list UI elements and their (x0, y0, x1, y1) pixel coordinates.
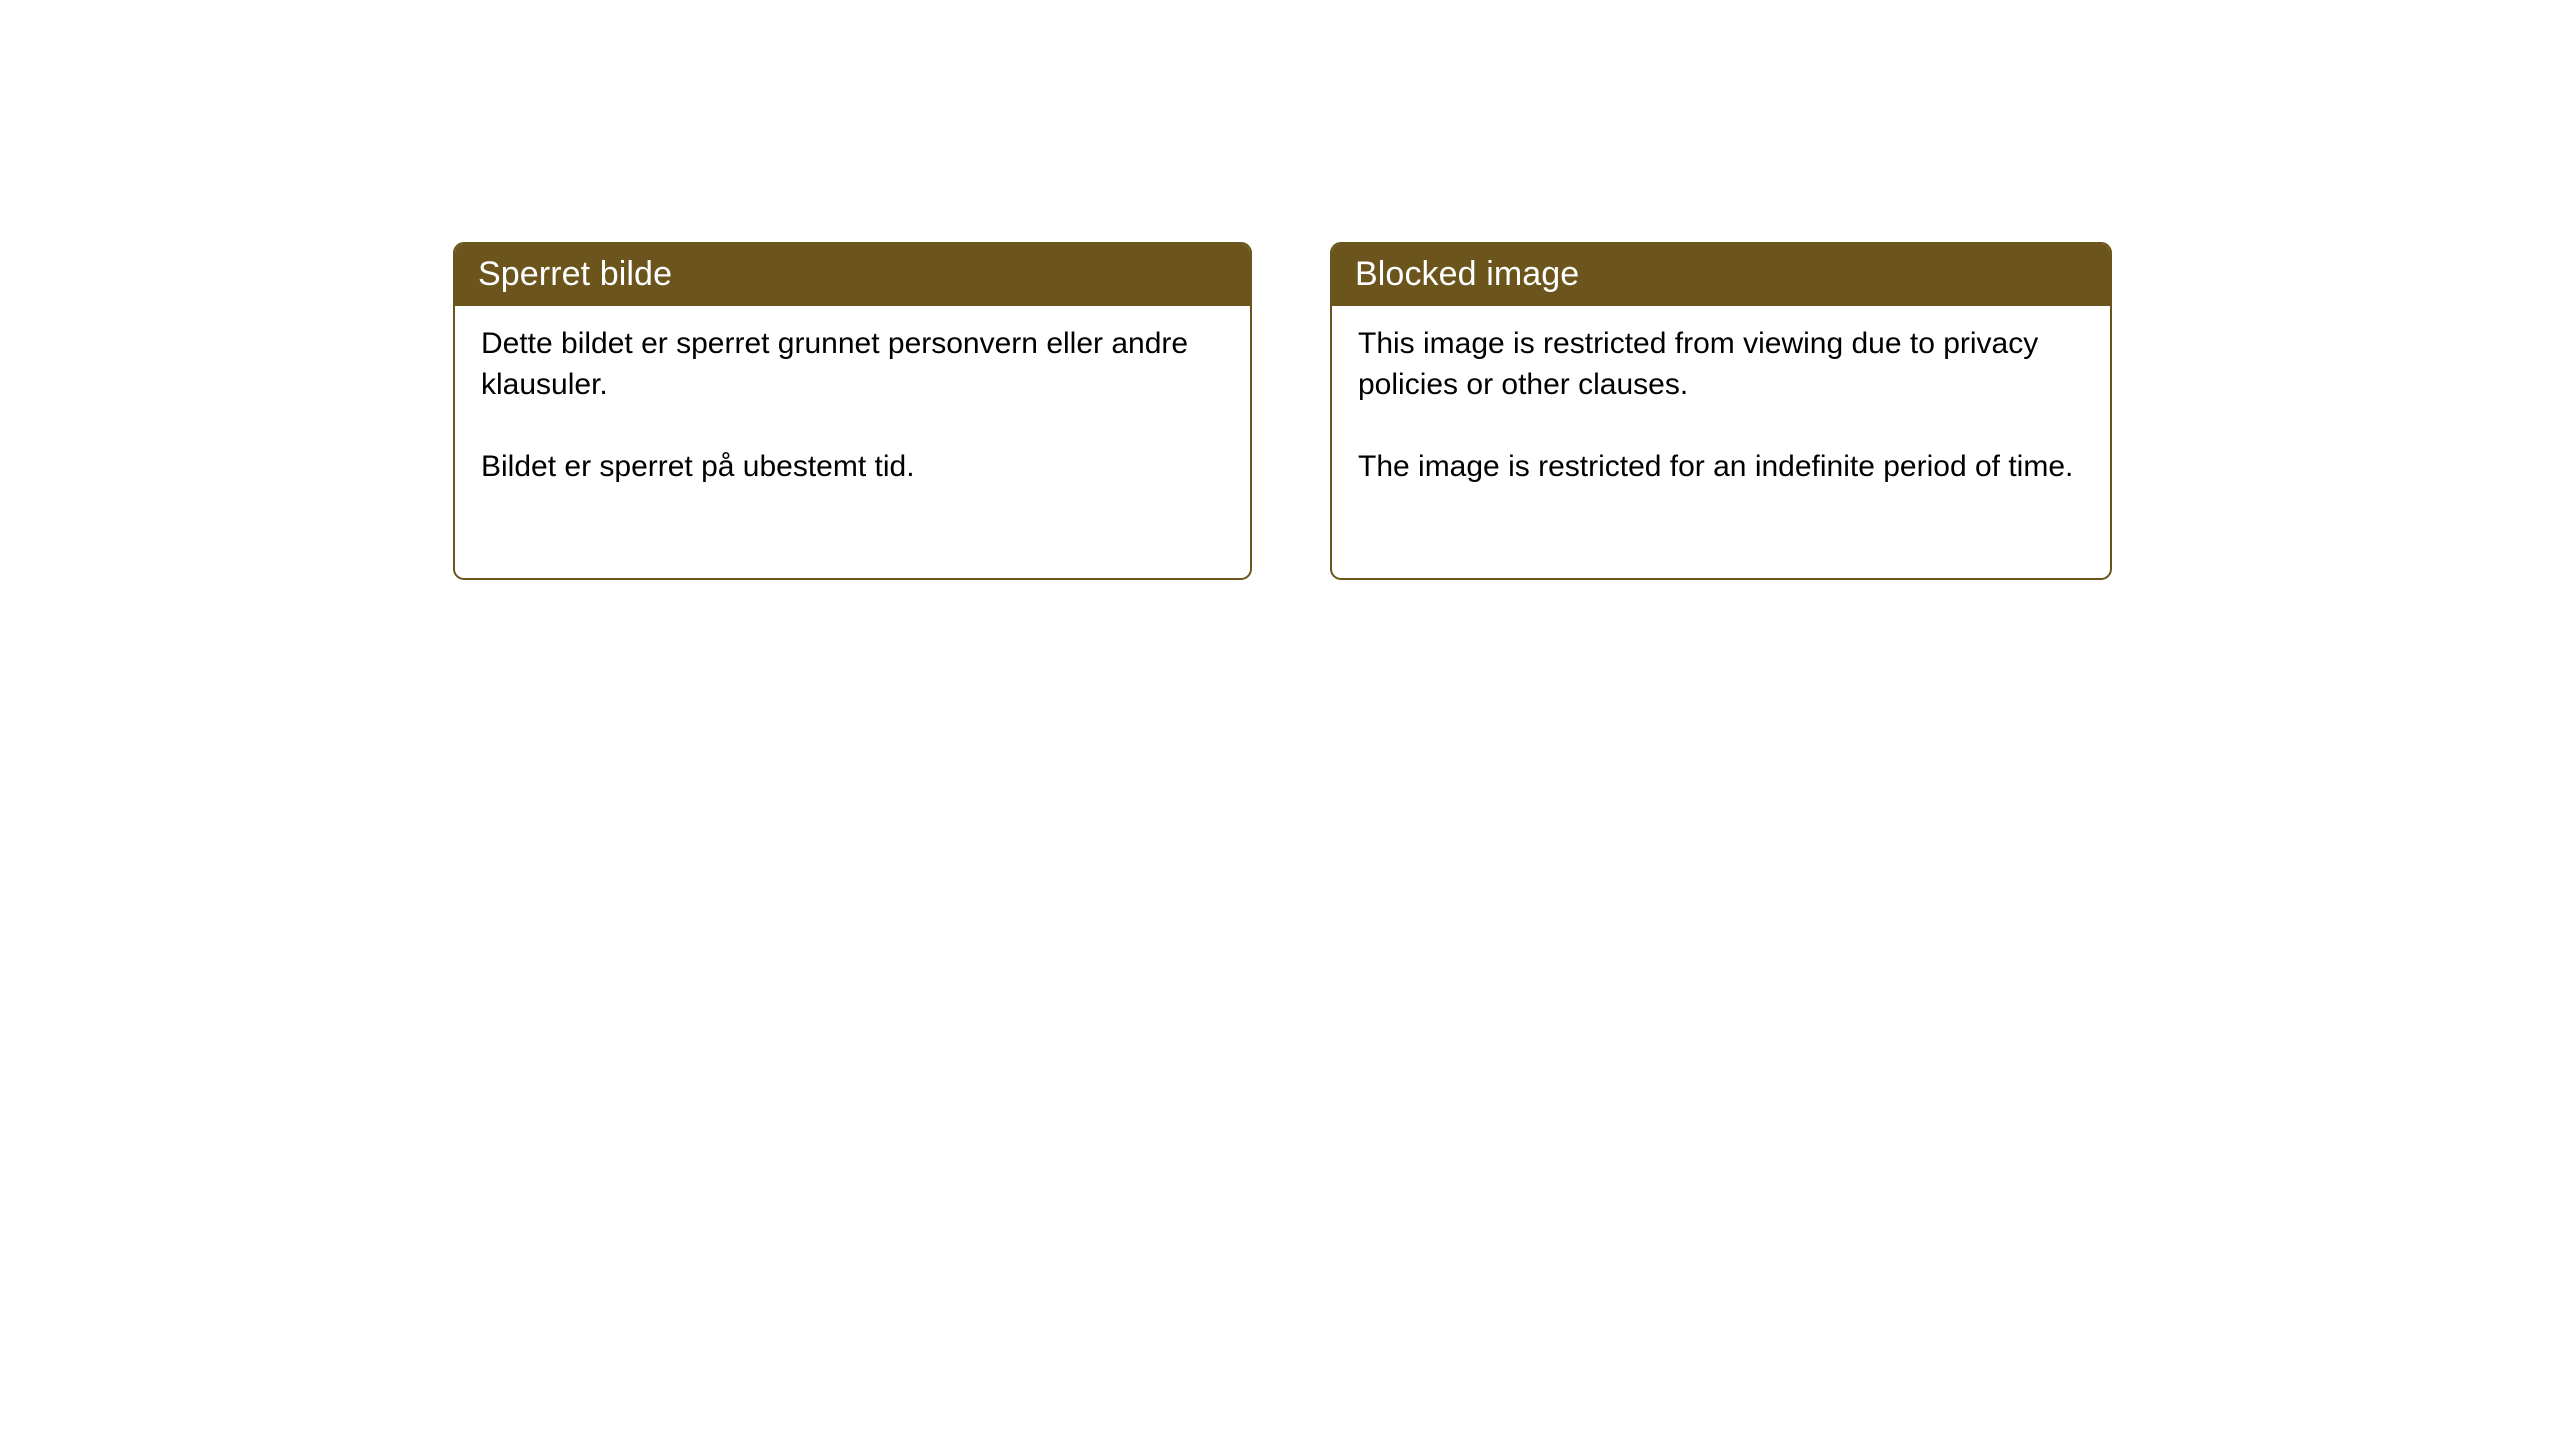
page-root: Sperret bilde Dette bildet er sperret gr… (0, 0, 2560, 1440)
card-title-english: Blocked image (1355, 257, 1579, 291)
card-paragraph-privacy-english: This image is restricted from viewing du… (1358, 324, 2086, 405)
card-title-norwegian: Sperret bilde (478, 257, 672, 291)
card-paragraph-privacy-norwegian: Dette bildet er sperret grunnet personve… (481, 324, 1226, 405)
card-body-english: This image is restricted from viewing du… (1332, 306, 2110, 488)
card-header-english: Blocked image (1330, 242, 2112, 306)
card-header-norwegian: Sperret bilde (453, 242, 1252, 306)
card-paragraph-duration-english: The image is restricted for an indefinit… (1358, 447, 2086, 488)
blocked-image-notice-card-norwegian: Sperret bilde Dette bildet er sperret gr… (453, 242, 1252, 580)
card-body-norwegian: Dette bildet er sperret grunnet personve… (455, 306, 1250, 488)
card-paragraph-duration-norwegian: Bildet er sperret på ubestemt tid. (481, 447, 1226, 488)
blocked-image-notice-card-english: Blocked image This image is restricted f… (1330, 242, 2112, 580)
